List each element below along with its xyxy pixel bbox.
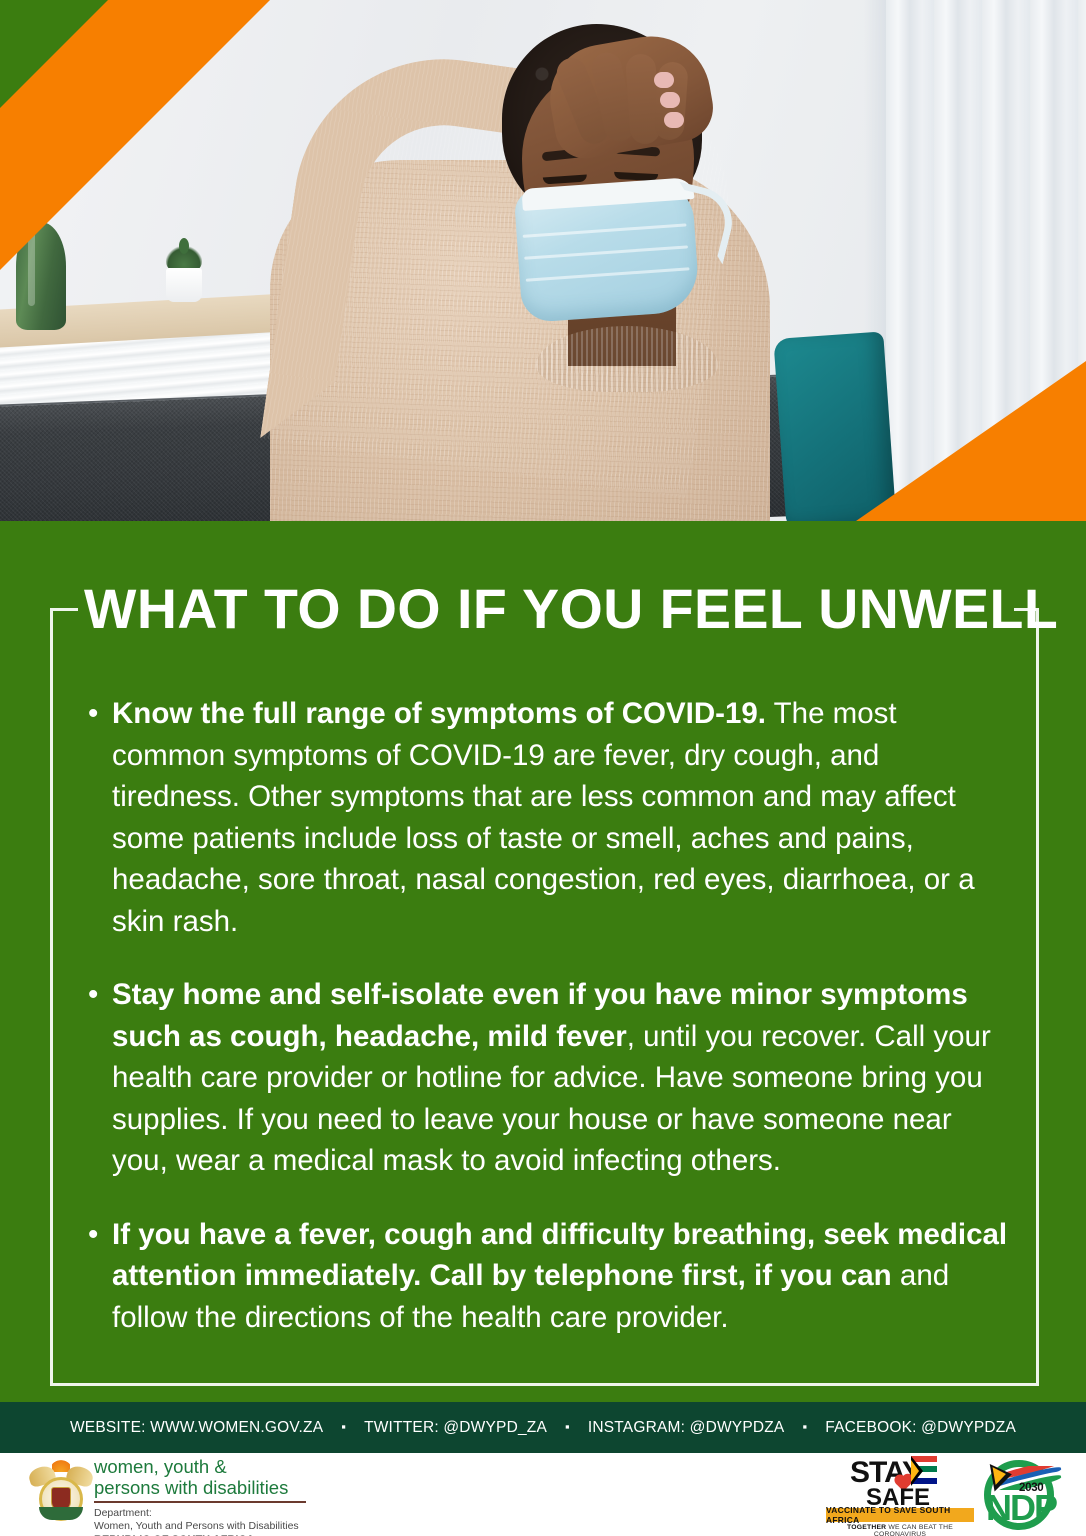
hero-photo (0, 0, 1086, 521)
bullet-lead-text: If you have a fever, cough and difficult… (112, 1218, 1007, 1293)
contact-website[interactable]: WEBSITE: WWW.WOMEN.GOV.ZA (70, 1419, 323, 1437)
page-title: WHAT TO DO IF YOU FEEL UNWELL (84, 578, 995, 640)
logo-bar: women, youth & persons with disabilities… (0, 1453, 1086, 1536)
photo-person (250, 10, 810, 521)
ndp-word-text: NDP (986, 1490, 1056, 1526)
corner-accent-green-inner (0, 0, 108, 108)
contact-instagram[interactable]: INSTAGRAM: @DWYPDZA (588, 1419, 785, 1437)
stay-safe-banner: VACCINATE TO SAVE SOUTH AFRICA (826, 1508, 974, 1522)
list-item: •Know the full range of symptoms of COVI… (86, 693, 1010, 942)
poster-root: WHAT TO DO IF YOU FEEL UNWELL •Know the … (0, 0, 1086, 1536)
flag-yellow-triangle-icon (911, 1460, 919, 1482)
photo-mask-pleat (526, 267, 690, 281)
contact-facebook[interactable]: FACEBOOK: @DWYPDZA (825, 1419, 1016, 1437)
contact-strip: WEBSITE: WWW.WOMEN.GOV.ZA ▪ TWITTER: @DW… (0, 1402, 1086, 1453)
department-identity: women, youth & persons with disabilities… (94, 1457, 424, 1536)
photo-fingernail (660, 92, 680, 108)
department-sub-name: Women, Youth and Persons with Disabiliti… (94, 1520, 424, 1533)
photo-mask-pleat (523, 223, 687, 237)
contact-separator-icon: ▪ (547, 1419, 588, 1434)
bullet-marker-icon: • (88, 974, 98, 1016)
ndp-2030-logo: 2030 NDP (978, 1460, 1064, 1530)
stay-safe-together-bold: TOGETHER (847, 1524, 886, 1531)
bullet-list: •Know the full range of symptoms of COVI… (86, 693, 1010, 1338)
south-africa-flag-icon (911, 1456, 937, 1486)
corner-accent-orange-bottomright (856, 361, 1086, 521)
south-africa-coat-of-arms-icon (30, 1461, 92, 1527)
content-panel: WHAT TO DO IF YOU FEEL UNWELL •Know the … (0, 521, 1086, 1402)
contact-twitter[interactable]: TWITTER: @DWYPD_ZA (364, 1419, 547, 1437)
bullet-marker-icon: • (88, 693, 98, 735)
department-name-line1: women, youth & (94, 1457, 424, 1478)
stay-safe-logo: STAY SAFE VACCINATE TO SAVE SOUTH AFRICA… (826, 1458, 974, 1532)
bullet-body-text: The most common symptoms of COVID-19 are… (112, 697, 975, 938)
bullet-marker-icon: • (88, 1214, 98, 1256)
department-divider (94, 1501, 306, 1503)
contact-separator-icon: ▪ (784, 1419, 825, 1434)
list-item: •If you have a fever, cough and difficul… (86, 1214, 1010, 1339)
list-item: •Stay home and self-isolate even if you … (86, 974, 1010, 1182)
contact-inner: WEBSITE: WWW.WOMEN.GOV.ZA ▪ TWITTER: @DW… (70, 1419, 1016, 1437)
photo-fingernail (664, 112, 684, 128)
contact-separator-icon: ▪ (323, 1419, 364, 1434)
stay-safe-together-rest: WE CAN BEAT THE CORONAVIRUS (874, 1524, 953, 1536)
department-sub-label: Department: (94, 1507, 424, 1520)
photo-fingernail (654, 72, 674, 88)
stay-safe-together-line: TOGETHER WE CAN BEAT THE CORONAVIRUS (826, 1524, 974, 1536)
department-country: REPUBLIC OF SOUTH AFRICA (94, 1533, 424, 1536)
department-name-line2: persons with disabilities (94, 1478, 424, 1499)
bullet-lead-text: Know the full range of symptoms of COVID… (112, 697, 766, 730)
photo-plant-pot (166, 268, 202, 302)
coat-of-arms-ribbon-icon (39, 1507, 83, 1520)
stay-safe-banner-text: VACCINATE TO SAVE SOUTH AFRICA (826, 1505, 974, 1525)
